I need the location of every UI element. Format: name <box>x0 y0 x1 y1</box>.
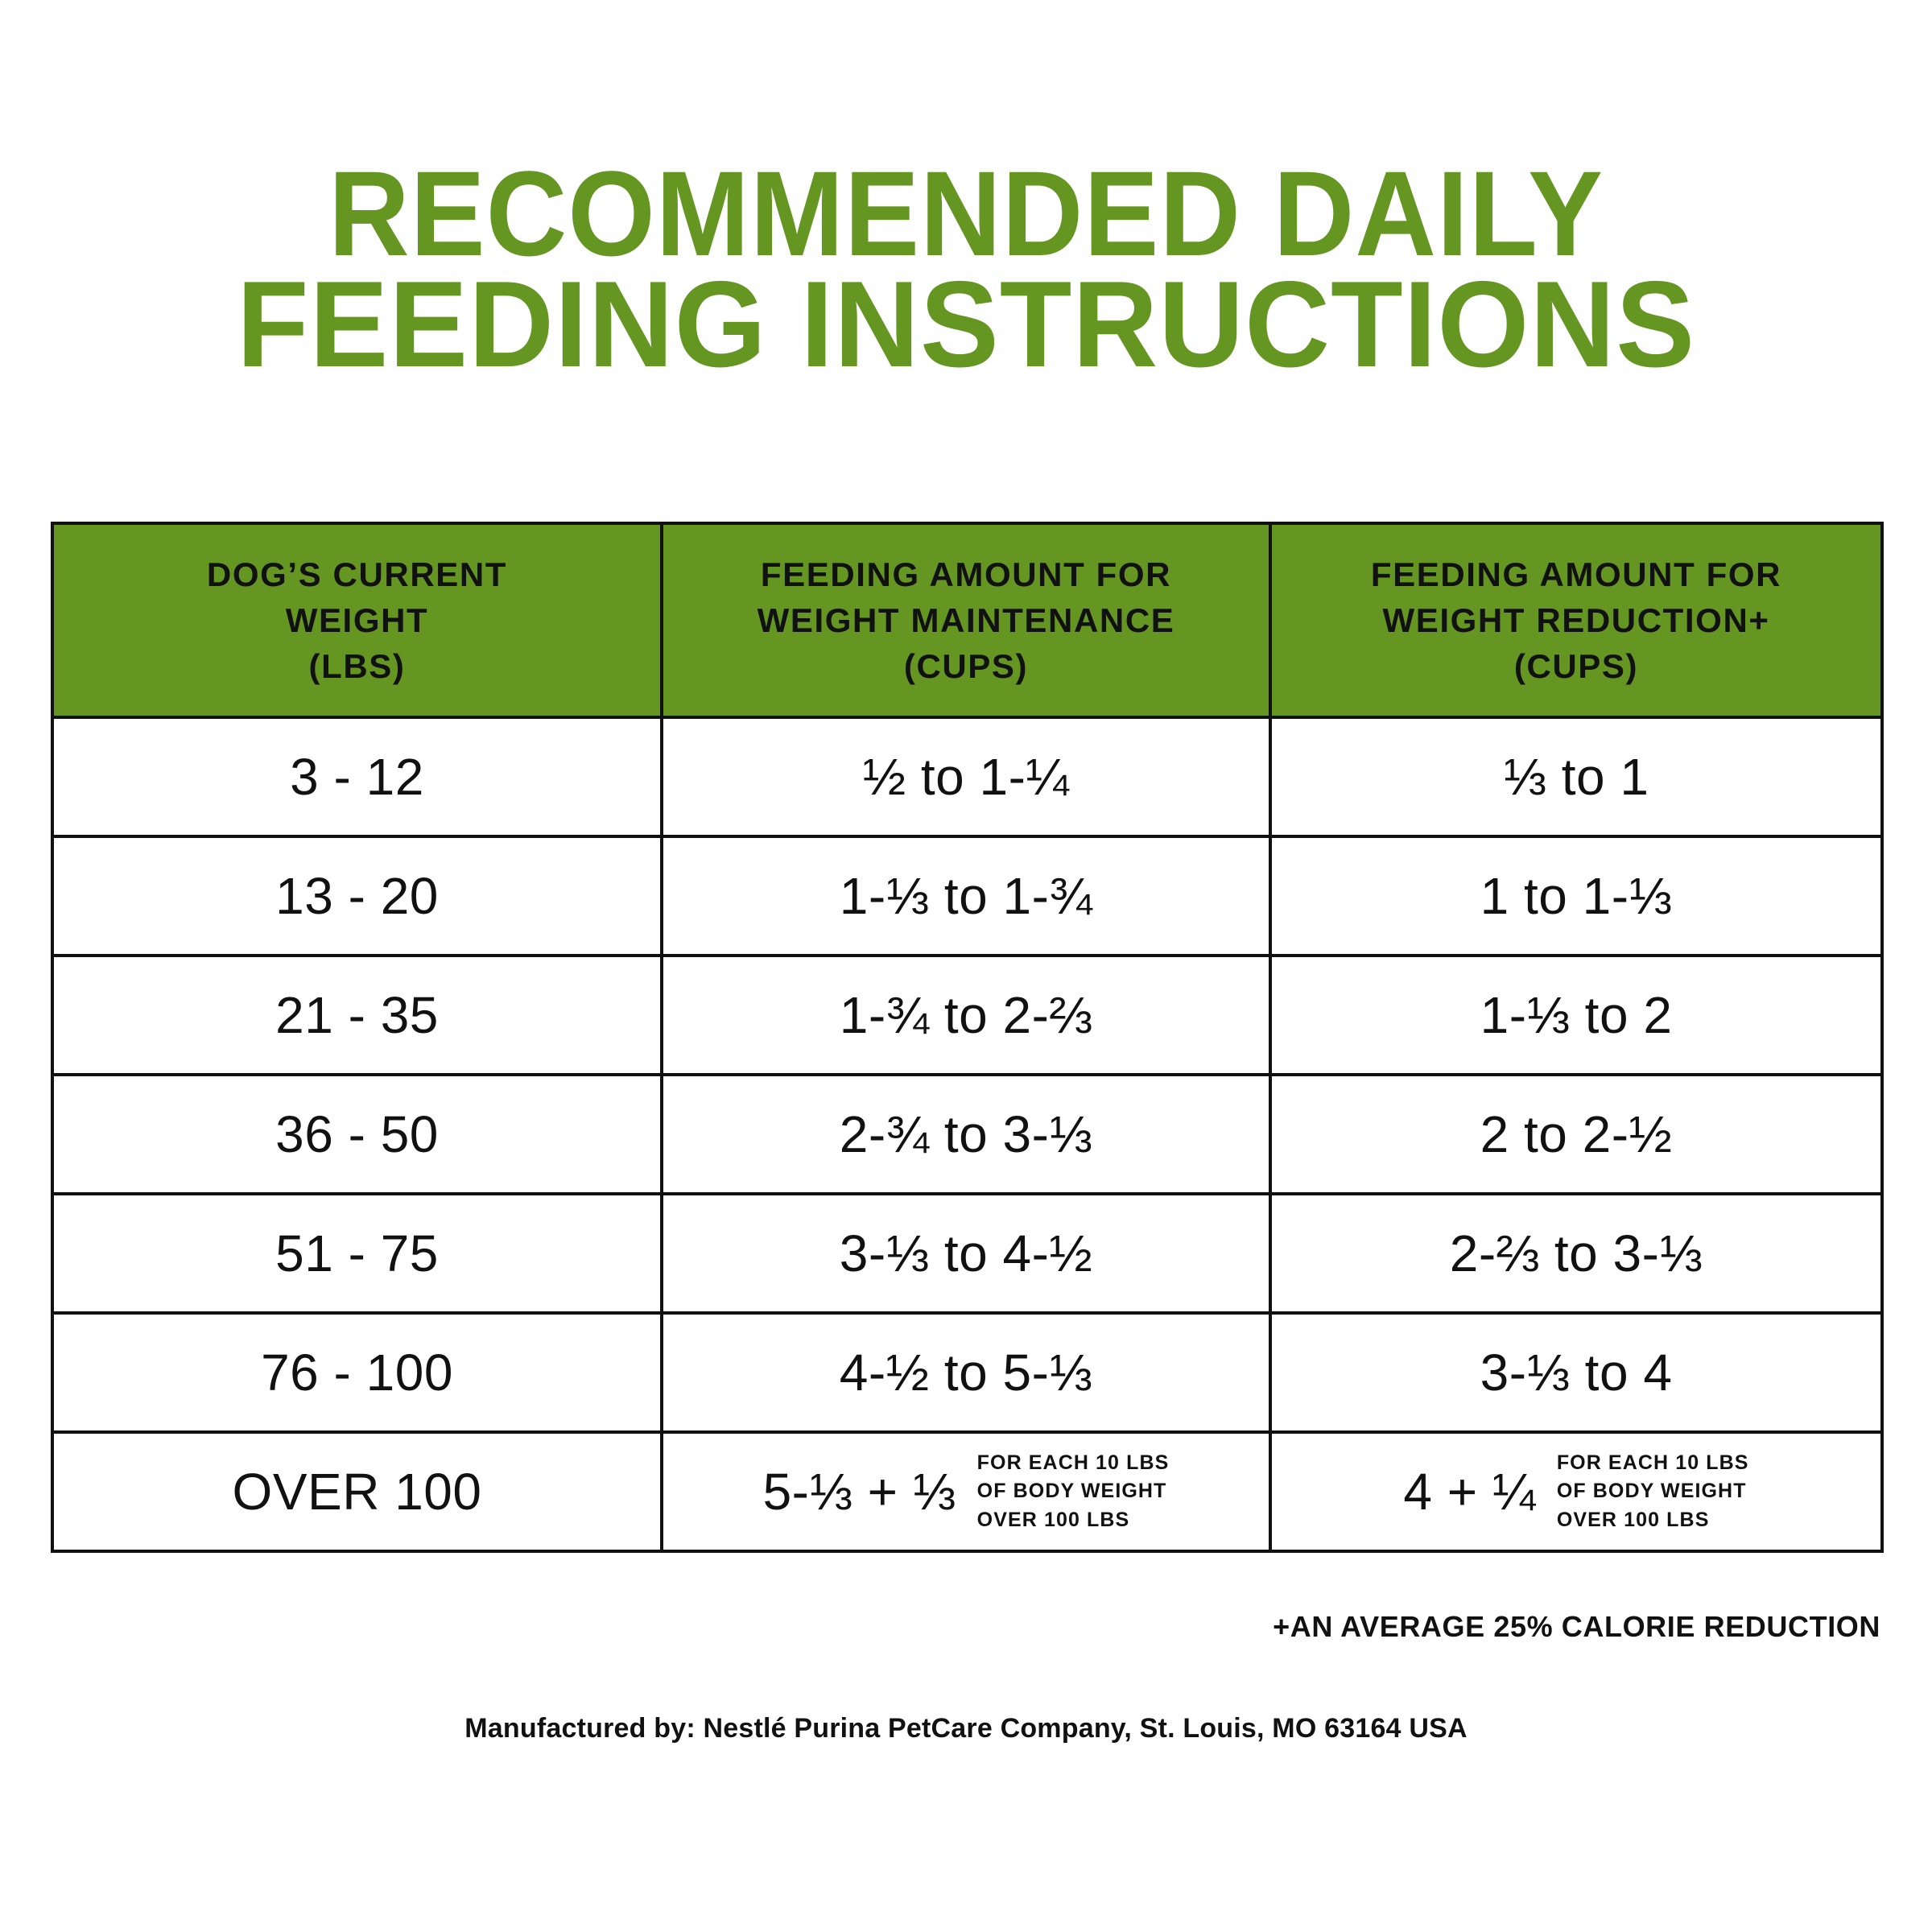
column-header-weight-maintenance: FEEDING AMOUNT FOR WEIGHT MAINTENANCE (C… <box>662 523 1270 717</box>
feeding-instructions-page: RECOMMENDED DAILY FEEDING INSTRUCTIONS D… <box>0 0 1932 1932</box>
note-line-3: OVER 100 LBS <box>1557 1506 1749 1535</box>
note-line-3: OVER 100 LBS <box>977 1506 1170 1535</box>
table-row: 36 - 50 2-¾ to 3-⅓ 2 to 2-½ <box>52 1075 1882 1194</box>
cell-maintenance: 2-¾ to 3-⅓ <box>662 1075 1270 1194</box>
cell-weight: OVER 100 <box>52 1432 662 1551</box>
maintenance-note: FOR EACH 10 LBS OF BODY WEIGHT OVER 100 … <box>977 1449 1170 1535</box>
cell-maintenance: 1-¾ to 2-⅔ <box>662 956 1270 1075</box>
table-row: 3 - 12 ½ to 1-¼ ⅓ to 1 <box>52 717 1882 836</box>
cell-reduction: ⅓ to 1 <box>1270 717 1882 836</box>
cell-reduction: 3-⅓ to 4 <box>1270 1313 1882 1432</box>
cell-maintenance: 4-½ to 5-⅓ <box>662 1313 1270 1432</box>
maintenance-combo: 5-⅓ + ⅓ FOR EACH 10 LBS OF BODY WEIGHT O… <box>663 1449 1269 1535</box>
cell-maintenance: 5-⅓ + ⅓ FOR EACH 10 LBS OF BODY WEIGHT O… <box>662 1432 1270 1551</box>
cell-maintenance: 1-⅓ to 1-¾ <box>662 836 1270 956</box>
cell-weight: 21 - 35 <box>52 956 662 1075</box>
reduction-note: FOR EACH 10 LBS OF BODY WEIGHT OVER 100 … <box>1557 1449 1749 1535</box>
reduction-combo: 4 + ¼ FOR EACH 10 LBS OF BODY WEIGHT OVE… <box>1272 1449 1880 1535</box>
column-header-line-1: FEEDING AMOUNT FOR <box>671 551 1261 597</box>
table-body: 3 - 12 ½ to 1-¼ ⅓ to 1 13 - 20 1-⅓ to 1-… <box>52 717 1882 1551</box>
cell-maintenance: ½ to 1-¼ <box>662 717 1270 836</box>
cell-reduction: 2 to 2-½ <box>1270 1075 1882 1194</box>
cell-maintenance: 3-⅓ to 4-½ <box>662 1194 1270 1313</box>
column-header-line-2: WEIGHT <box>62 597 652 643</box>
cell-reduction: 1 to 1-⅓ <box>1270 836 1882 956</box>
column-header-line-3: (LBS) <box>62 643 652 689</box>
column-header-line-3: (CUPS) <box>1280 643 1872 689</box>
note-line-2: OF BODY WEIGHT <box>1557 1477 1749 1506</box>
cell-weight: 3 - 12 <box>52 717 662 836</box>
column-header-line-3: (CUPS) <box>671 643 1261 689</box>
cell-weight: 13 - 20 <box>52 836 662 956</box>
cell-weight: 36 - 50 <box>52 1075 662 1194</box>
page-title-line-1: RECOMMENDED DAILY <box>68 158 1864 269</box>
cell-weight: 76 - 100 <box>52 1313 662 1432</box>
table-row: 76 - 100 4-½ to 5-⅓ 3-⅓ to 4 <box>52 1313 1882 1432</box>
cell-reduction: 2-⅔ to 3-⅓ <box>1270 1194 1882 1313</box>
feeding-table: DOG’S CURRENT WEIGHT (LBS) FEEDING AMOUN… <box>51 522 1884 1553</box>
note-line-1: FOR EACH 10 LBS <box>1557 1449 1749 1478</box>
page-title: RECOMMENDED DAILY FEEDING INSTRUCTIONS <box>0 158 1932 382</box>
column-header-line-1: DOG’S CURRENT <box>62 551 652 597</box>
column-header-dogs-current-weight: DOG’S CURRENT WEIGHT (LBS) <box>52 523 662 717</box>
footnote-calorie-reduction: +AN AVERAGE 25% CALORIE REDUCTION <box>51 1610 1880 1644</box>
footnote-manufacturer: Manufactured by: Nestlé Purina PetCare C… <box>0 1713 1932 1744</box>
reduction-amount: 4 + ¼ <box>1403 1462 1535 1521</box>
table-row: 13 - 20 1-⅓ to 1-¾ 1 to 1-⅓ <box>52 836 1882 956</box>
table-header-row: DOG’S CURRENT WEIGHT (LBS) FEEDING AMOUN… <box>52 523 1882 717</box>
table-header: DOG’S CURRENT WEIGHT (LBS) FEEDING AMOUN… <box>52 523 1882 717</box>
cell-weight: 51 - 75 <box>52 1194 662 1313</box>
note-line-1: FOR EACH 10 LBS <box>977 1449 1170 1478</box>
column-header-weight-reduction: FEEDING AMOUNT FOR WEIGHT REDUCTION+ (CU… <box>1270 523 1882 717</box>
cell-reduction: 1-⅓ to 2 <box>1270 956 1882 1075</box>
column-header-line-2: WEIGHT REDUCTION+ <box>1280 597 1872 643</box>
maintenance-amount: 5-⅓ + ⅓ <box>763 1462 956 1521</box>
column-header-line-1: FEEDING AMOUNT FOR <box>1280 551 1872 597</box>
cell-reduction: 4 + ¼ FOR EACH 10 LBS OF BODY WEIGHT OVE… <box>1270 1432 1882 1551</box>
page-title-line-2: FEEDING INSTRUCTIONS <box>34 269 1898 382</box>
table-row-over-100: OVER 100 5-⅓ + ⅓ FOR EACH 10 LBS OF BODY… <box>52 1432 1882 1551</box>
column-header-line-2: WEIGHT MAINTENANCE <box>671 597 1261 643</box>
table-row: 21 - 35 1-¾ to 2-⅔ 1-⅓ to 2 <box>52 956 1882 1075</box>
note-line-2: OF BODY WEIGHT <box>977 1477 1170 1506</box>
table-row: 51 - 75 3-⅓ to 4-½ 2-⅔ to 3-⅓ <box>52 1194 1882 1313</box>
